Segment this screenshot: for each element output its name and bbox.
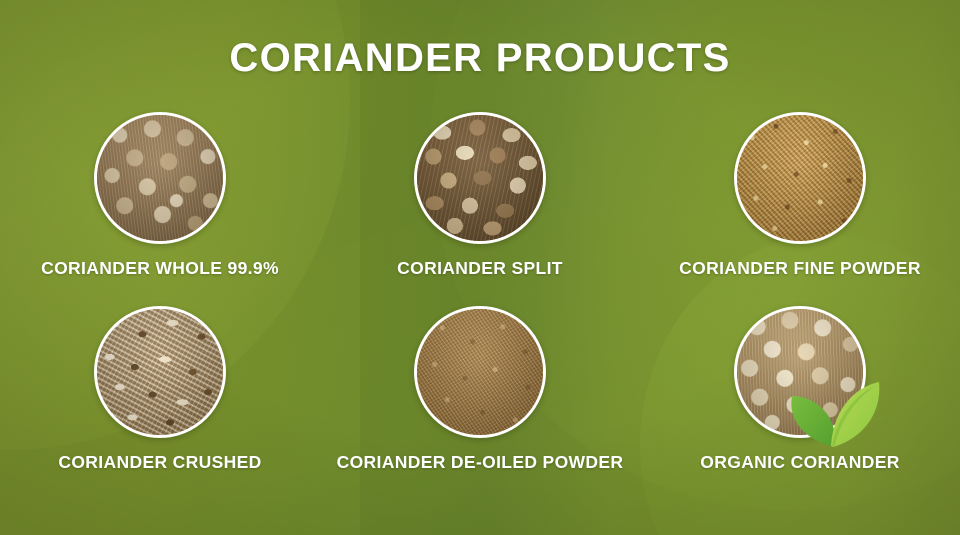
product-image-wrap [414, 306, 546, 438]
seed-texture [737, 309, 863, 435]
powder-texture [417, 309, 543, 435]
product-image-wrap [414, 112, 546, 244]
product-image-coriander-crushed [94, 306, 226, 438]
product-image-coriander-split-seeds [414, 112, 546, 244]
product-grid: CORIANDER WHOLE 99.9% CORIANDER SPLIT CO… [0, 112, 960, 486]
product-image-wrap [94, 112, 226, 244]
product-image-wrap [94, 306, 226, 438]
page-title: CORIANDER PRODUCTS [0, 38, 960, 78]
product-label: CORIANDER WHOLE 99.9% [41, 258, 279, 279]
product-card[interactable]: CORIANDER WHOLE 99.9% [0, 112, 320, 292]
product-label: CORIANDER DE-OILED POWDER [337, 452, 624, 473]
coriander-products-poster: CORIANDER PRODUCTS CORIANDER WHOLE 99.9%… [0, 0, 960, 535]
product-image-coriander-fine-powder [734, 112, 866, 244]
product-image-wrap [734, 306, 866, 438]
product-image-coriander-de-oiled-powder [414, 306, 546, 438]
product-label: CORIANDER FINE POWDER [679, 258, 921, 279]
crushed-texture [97, 309, 223, 435]
seed-texture [97, 115, 223, 241]
product-card[interactable]: CORIANDER DE-OILED POWDER [320, 306, 640, 486]
product-image-organic-coriander-seeds [734, 306, 866, 438]
product-card[interactable]: ORGANIC CORIANDER [640, 306, 960, 486]
product-image-wrap [734, 112, 866, 244]
product-label: CORIANDER CRUSHED [58, 452, 261, 473]
product-label: CORIANDER SPLIT [397, 258, 563, 279]
product-label: ORGANIC CORIANDER [700, 452, 899, 473]
powder-texture [737, 115, 863, 241]
product-card[interactable]: CORIANDER FINE POWDER [640, 112, 960, 292]
product-image-coriander-whole-seeds [94, 112, 226, 244]
product-card[interactable]: CORIANDER CRUSHED [0, 306, 320, 486]
seed-texture [417, 115, 543, 241]
product-card[interactable]: CORIANDER SPLIT [320, 112, 640, 292]
